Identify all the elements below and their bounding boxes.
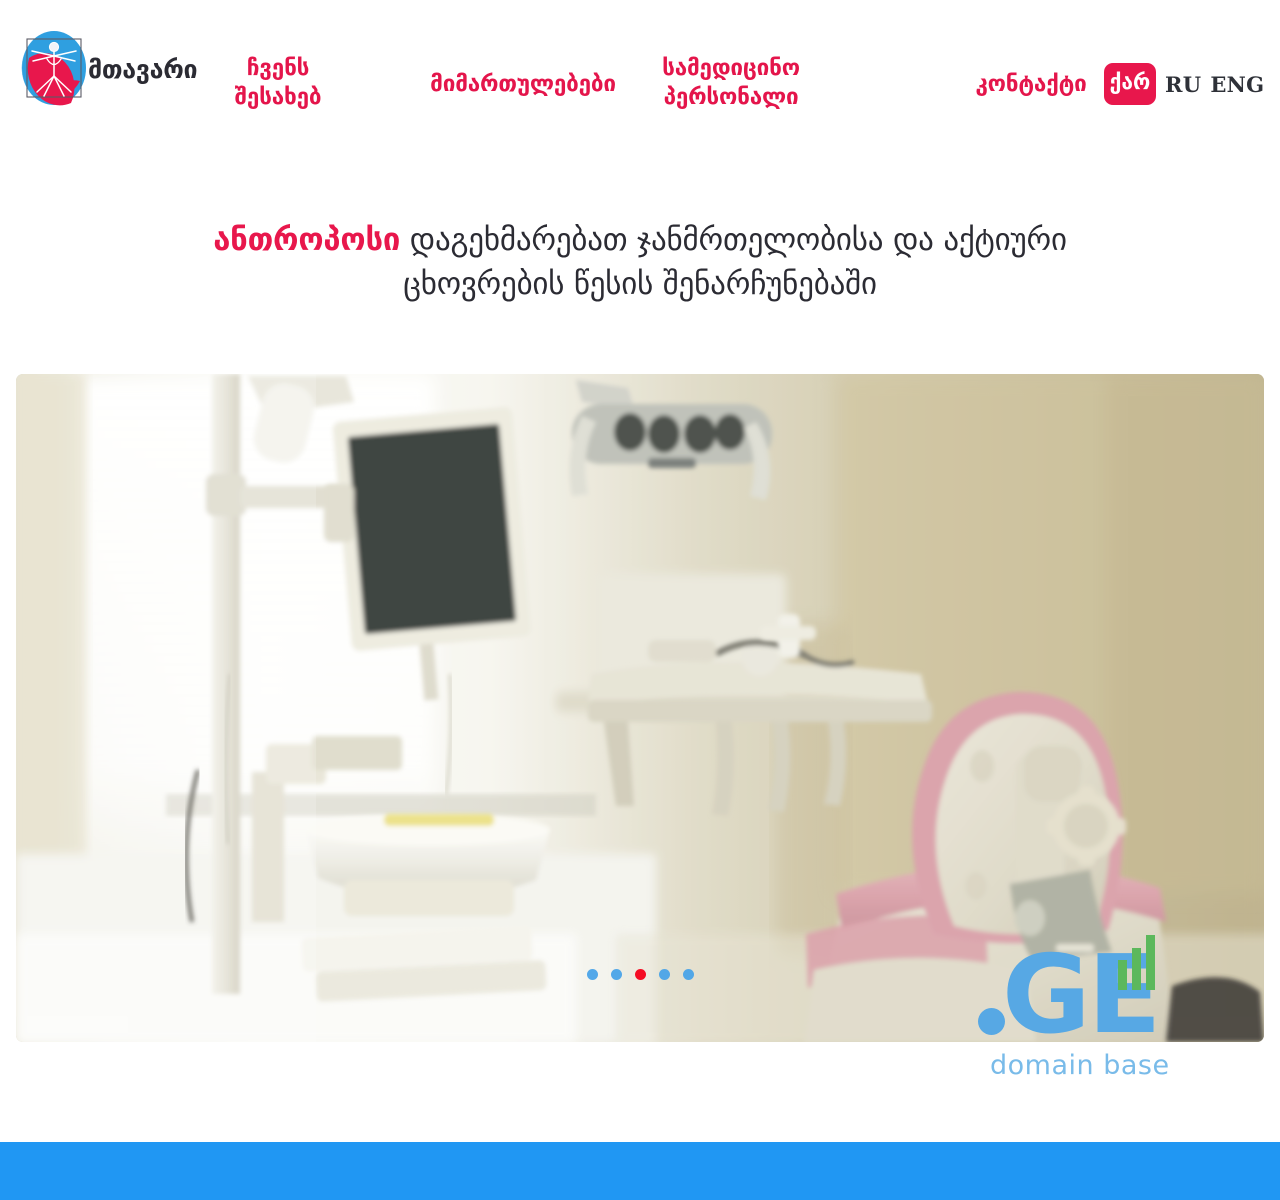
- nav-item-contact[interactable]: კონტაქტი: [972, 70, 1090, 99]
- ge-caption: domain base: [990, 1052, 1170, 1079]
- nav-item-medical-staff[interactable]: სამედიცინო პერსონალი: [646, 54, 816, 112]
- hero-headline-rest: დაგეხმარებათ ჯანმრთელობისა და აქტიური ცხ…: [400, 222, 1067, 302]
- brand-home-link[interactable]: მთავარი: [16, 26, 197, 112]
- carousel-dot-4[interactable]: [659, 969, 670, 980]
- hero-headline-accent: ანთროპოსი: [213, 222, 400, 258]
- dental-clinic-photo: [16, 374, 1264, 1042]
- language-option-ru[interactable]: RU: [1165, 72, 1201, 97]
- nav-item-about[interactable]: ჩვენს შესახებ: [228, 54, 328, 112]
- carousel-dot-1[interactable]: [587, 969, 598, 980]
- bottom-blue-bar: [0, 1142, 1280, 1200]
- site-header: მთავარი ჩვენს შესახებ მიმართულებები სამე…: [0, 0, 1280, 140]
- carousel-dots: [16, 969, 1264, 980]
- page-root: მთავარი ჩვენს შესახებ მიმართულებები სამე…: [0, 0, 1280, 1200]
- carousel-dot-3[interactable]: [635, 969, 646, 980]
- language-switcher: ქარ RU ENG: [1104, 62, 1264, 106]
- carousel-dot-2[interactable]: [611, 969, 622, 980]
- vitruvian-man-logo-icon: [16, 26, 92, 112]
- nav-item-services[interactable]: მიმართულებები: [420, 70, 626, 99]
- hero-headline: ანთროპოსი დაგეხმარებათ ჯანმრთელობისა და …: [0, 218, 1280, 306]
- language-option-eng[interactable]: ENG: [1210, 72, 1264, 97]
- brand-label: მთავარი: [88, 57, 197, 82]
- hero-carousel-photo[interactable]: [16, 374, 1264, 1042]
- carousel-dot-5[interactable]: [683, 969, 694, 980]
- language-option-ka[interactable]: ქარ: [1104, 63, 1156, 105]
